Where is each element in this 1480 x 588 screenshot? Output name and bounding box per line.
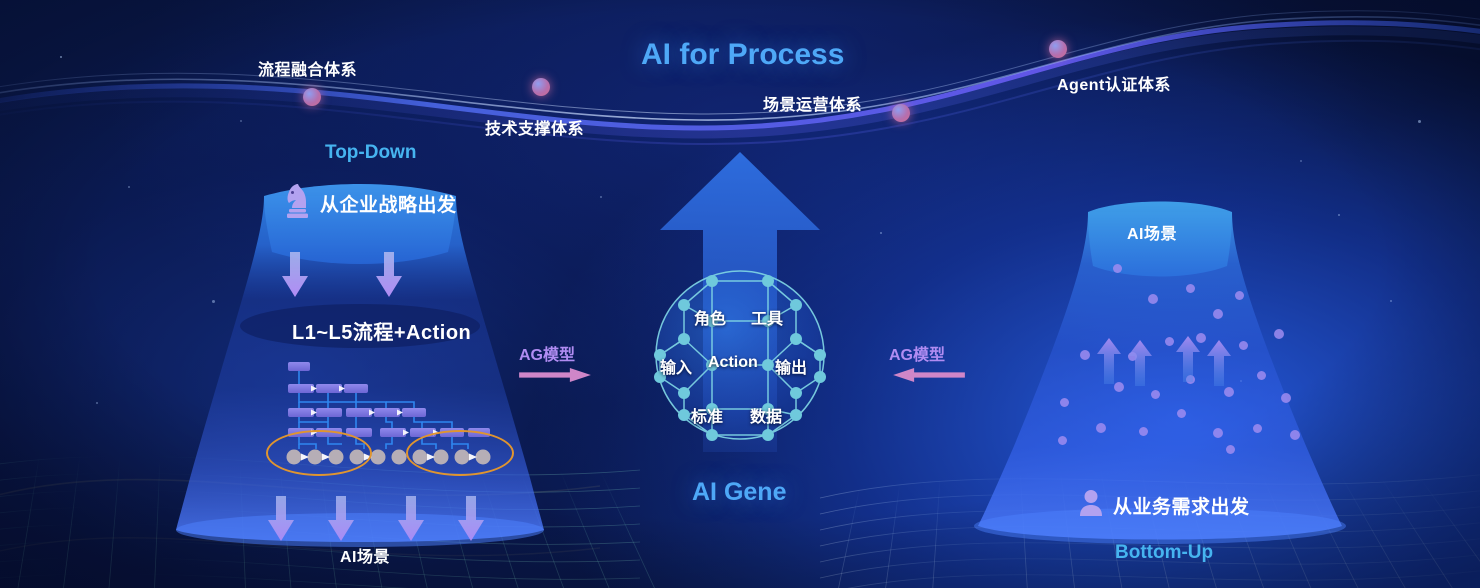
wave-node-dot-3 bbox=[892, 104, 910, 122]
rising-particle bbox=[1235, 291, 1244, 300]
rising-particle bbox=[1058, 436, 1067, 445]
infographic-canvas: 流程融合体系 技术支撑体系 场景运营体系 Agent认证体系 AI for Pr… bbox=[0, 0, 1480, 588]
rising-particle bbox=[1226, 445, 1235, 454]
wave-node-dot-4 bbox=[1049, 40, 1067, 58]
ag-model-label-left: AG模型 bbox=[519, 341, 575, 365]
strategy-label: 从企业战略出发 bbox=[320, 190, 457, 217]
up-arrow-4 bbox=[1207, 340, 1231, 386]
down-arrow-top-2 bbox=[376, 252, 402, 298]
right-heading: Bottom-Up bbox=[1115, 542, 1213, 564]
wave-node-dot-1 bbox=[303, 88, 321, 106]
left-outcome-label: AI场景 bbox=[340, 543, 390, 567]
down-arrow-bottom-2 bbox=[328, 496, 354, 542]
rising-particle bbox=[1213, 428, 1223, 438]
rising-particle bbox=[1096, 423, 1106, 433]
rising-particle bbox=[1148, 294, 1158, 304]
rising-particle bbox=[1060, 398, 1069, 407]
process-label: L1~L5流程+Action bbox=[292, 316, 471, 345]
wave-node-dot-2 bbox=[532, 78, 550, 96]
down-arrow-bottom-1 bbox=[268, 496, 294, 542]
down-arrow-bottom-4 bbox=[458, 496, 484, 542]
ai-gene-title: AI Gene bbox=[692, 478, 786, 507]
ag-arrow-right bbox=[514, 368, 596, 382]
wave-ribbon bbox=[0, 0, 1480, 160]
page-title: AI for Process bbox=[641, 38, 844, 72]
sphere-label-action: Action bbox=[708, 354, 758, 372]
rising-particle bbox=[1281, 393, 1291, 403]
rising-particle bbox=[1177, 409, 1186, 418]
left-heading: Top-Down bbox=[325, 142, 416, 164]
chess-knight-icon bbox=[281, 182, 311, 220]
rising-particle bbox=[1224, 387, 1234, 397]
highlight-ellipse-2 bbox=[406, 430, 514, 476]
rising-particle bbox=[1290, 430, 1300, 440]
rising-particle bbox=[1080, 350, 1090, 360]
rising-particle bbox=[1213, 309, 1223, 319]
highlight-ellipse-1 bbox=[266, 430, 372, 476]
rising-particle bbox=[1139, 427, 1148, 436]
wave-label-4: Agent认证体系 bbox=[1057, 71, 1171, 95]
rising-particle bbox=[1274, 329, 1284, 339]
up-arrow-1 bbox=[1097, 338, 1121, 384]
wave-label-2: 技术支撑体系 bbox=[485, 115, 584, 139]
sphere-label-output: 输出 bbox=[775, 354, 807, 378]
down-arrow-bottom-3 bbox=[398, 496, 424, 542]
rising-particle bbox=[1257, 371, 1266, 380]
rising-particle bbox=[1239, 341, 1248, 350]
sphere-label-data: 数据 bbox=[750, 403, 782, 427]
sphere-label-tool: 工具 bbox=[751, 305, 783, 329]
ag-model-label-right: AG模型 bbox=[889, 341, 945, 365]
up-arrow-3 bbox=[1176, 336, 1200, 382]
rising-particle bbox=[1253, 424, 1262, 433]
sphere-label-role: 角色 bbox=[694, 305, 726, 329]
down-arrow-top-1 bbox=[282, 252, 308, 298]
sphere-label-standard: 标准 bbox=[691, 403, 723, 427]
rising-particle bbox=[1151, 390, 1160, 399]
up-arrow-2 bbox=[1128, 340, 1152, 386]
business-label: 从业务需求出发 bbox=[1113, 492, 1250, 519]
wave-label-3: 场景运营体系 bbox=[763, 91, 862, 115]
right-scene-label: AI场景 bbox=[1127, 220, 1177, 244]
sphere-label-input: 输入 bbox=[660, 354, 692, 378]
wave-label-1: 流程融合体系 bbox=[258, 56, 357, 80]
rising-particle bbox=[1165, 337, 1174, 346]
rising-particle bbox=[1113, 264, 1122, 273]
person-icon bbox=[1079, 489, 1103, 516]
rising-particle bbox=[1186, 284, 1195, 293]
